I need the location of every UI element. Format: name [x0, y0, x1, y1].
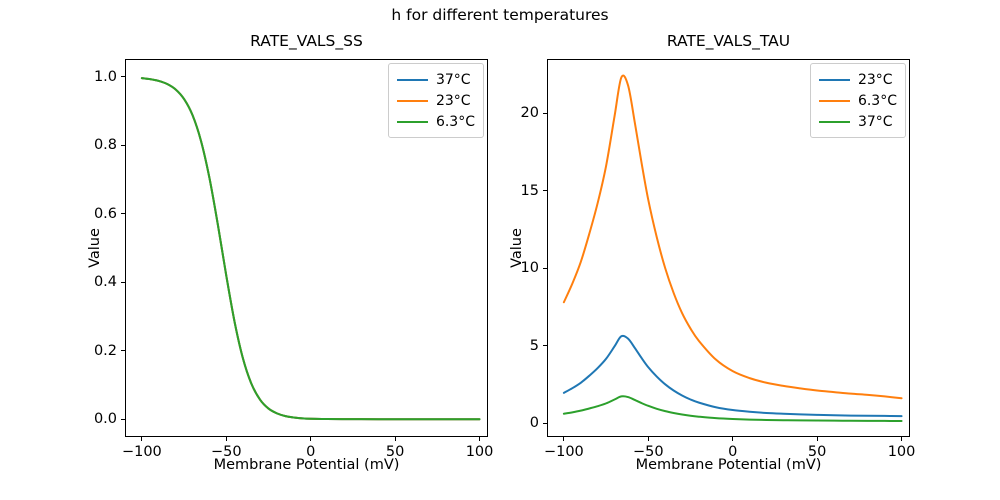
xtick-label: 100 — [466, 444, 494, 460]
legend-label: 23°C — [858, 72, 893, 88]
xtick-mark — [310, 437, 311, 441]
xtick-mark — [732, 437, 733, 441]
xtick-label: 50 — [386, 444, 404, 460]
xtick-mark — [901, 437, 902, 441]
xtick-mark — [141, 437, 142, 441]
legend-entry[interactable]: 37°C — [397, 69, 475, 90]
series-line — [564, 336, 902, 416]
xtick-label: 100 — [888, 444, 916, 460]
legend-swatch-6.3C — [819, 100, 850, 102]
series-line — [564, 396, 902, 421]
xtick-mark — [817, 437, 818, 441]
ytick-label: 0 — [477, 415, 539, 431]
ytick-mark — [543, 268, 547, 269]
subplot-rate-vals-tau: RATE_VALS_TAU Membrane Potential (mV) Va… — [547, 59, 910, 437]
legend-label: 23°C — [436, 93, 471, 109]
xtick-mark — [479, 437, 480, 441]
xtick-label: 0 — [728, 444, 737, 460]
xtick-label: −100 — [544, 444, 584, 460]
legend-label: 37°C — [436, 72, 471, 88]
legend-swatch-6.3C — [397, 121, 428, 123]
ytick-label: 0.2 — [55, 343, 117, 359]
xtick-mark — [395, 437, 396, 441]
xtick-mark — [563, 437, 564, 441]
ytick-mark — [121, 76, 125, 77]
ytick-label: 5 — [477, 338, 539, 354]
ytick-label: 15 — [477, 183, 539, 199]
ytick-mark — [121, 419, 125, 420]
ytick-label: 0.8 — [55, 137, 117, 153]
legend-swatch-23C — [819, 79, 850, 81]
legend-entry[interactable]: 37°C — [819, 111, 897, 132]
xtick-label: 50 — [808, 444, 826, 460]
legend-label: 6.3°C — [858, 93, 897, 109]
ylabel-left: Value — [87, 168, 103, 328]
ytick-label: 0.0 — [55, 411, 117, 427]
ytick-mark — [121, 213, 125, 214]
ytick-label: 20 — [477, 105, 539, 121]
ytick-mark — [121, 350, 125, 351]
ytick-label: 0.6 — [55, 206, 117, 222]
ytick-label: 10 — [477, 260, 539, 276]
ytick-mark — [543, 190, 547, 191]
figure-suptitle: h for different temperatures — [0, 6, 1000, 24]
ytick-mark — [543, 423, 547, 424]
legend-entry[interactable]: 6.3°C — [397, 111, 475, 132]
xtick-label: −50 — [211, 444, 242, 460]
legend-swatch-37C — [397, 79, 428, 81]
ytick-mark — [121, 282, 125, 283]
legend-swatch-37C — [819, 121, 850, 123]
matplotlib-figure: h for different temperatures RATE_VALS_S… — [0, 0, 1000, 500]
legend-swatch-23C — [397, 100, 428, 102]
legend-entry[interactable]: 23°C — [819, 69, 897, 90]
xtick-label: −100 — [122, 444, 162, 460]
xtick-mark — [648, 437, 649, 441]
subplot-rate-vals-ss: RATE_VALS_SS Membrane Potential (mV) Val… — [125, 59, 488, 437]
ytick-mark — [543, 345, 547, 346]
subplot-title-left: RATE_VALS_SS — [125, 32, 488, 50]
ytick-mark — [121, 145, 125, 146]
subplot-title-right: RATE_VALS_TAU — [547, 32, 910, 50]
legend-label: 6.3°C — [436, 114, 475, 130]
ytick-label: 0.4 — [55, 274, 117, 290]
xtick-label: −50 — [633, 444, 664, 460]
legend-entry[interactable]: 23°C — [397, 90, 475, 111]
legend-left[interactable]: 37°C23°C6.3°C — [388, 63, 484, 138]
ytick-mark — [543, 113, 547, 114]
legend-entry[interactable]: 6.3°C — [819, 90, 897, 111]
legend-label: 37°C — [858, 114, 893, 130]
xtick-label: 0 — [306, 444, 315, 460]
ytick-label: 1.0 — [55, 69, 117, 85]
legend-right[interactable]: 23°C6.3°C37°C — [810, 63, 906, 138]
xtick-mark — [226, 437, 227, 441]
